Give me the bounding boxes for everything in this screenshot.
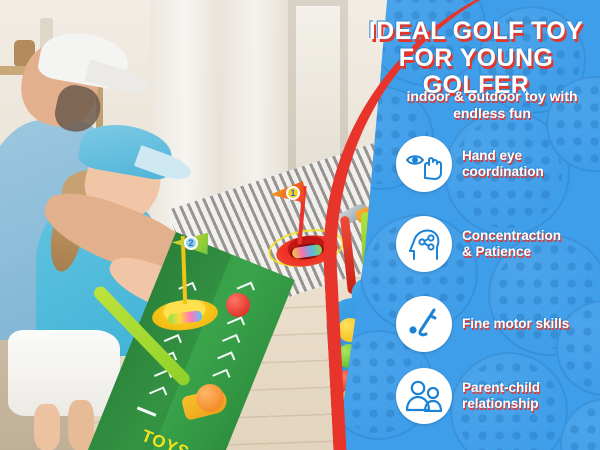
- feature-parent-child-relationship: Parent-child relationship: [396, 368, 540, 424]
- head-brain-icon: [406, 227, 442, 261]
- subheadline: indoor & outdoor toy with endless fun: [384, 88, 600, 122]
- feature-icon-badge: [396, 216, 452, 272]
- headline: IDEAL GOLF TOY FOR YOUNG GOLFER: [352, 18, 600, 99]
- feature-label: Fine motor skills: [462, 316, 569, 332]
- headline-line-1: IDEAL GOLF TOY: [352, 18, 600, 45]
- feature-hand-eye-coordination: Hand eye coordination: [396, 136, 600, 192]
- promo-image: 1 2 GOLF TOYS TOYS: [0, 0, 600, 450]
- feature-label: Concentraction & Patience: [462, 228, 561, 260]
- feature-icon-badge: [396, 368, 452, 424]
- feature-label: Parent-child relationship: [462, 380, 540, 412]
- eye-hand-icon: [405, 147, 443, 181]
- feature-icon-badge: [396, 296, 452, 352]
- panel-content: IDEAL GOLF TOY FOR YOUNG GOLFER indoor &…: [0, 0, 600, 450]
- feature-concentration-patience: Concentraction & Patience: [396, 216, 561, 272]
- feature-icon-badge: [396, 136, 452, 192]
- two-people-icon: [405, 380, 443, 412]
- golf-club-ball-icon: [406, 307, 442, 341]
- feature-fine-motor-skills: Fine motor skills: [396, 296, 569, 352]
- feature-label: Hand eye coordination: [462, 148, 600, 180]
